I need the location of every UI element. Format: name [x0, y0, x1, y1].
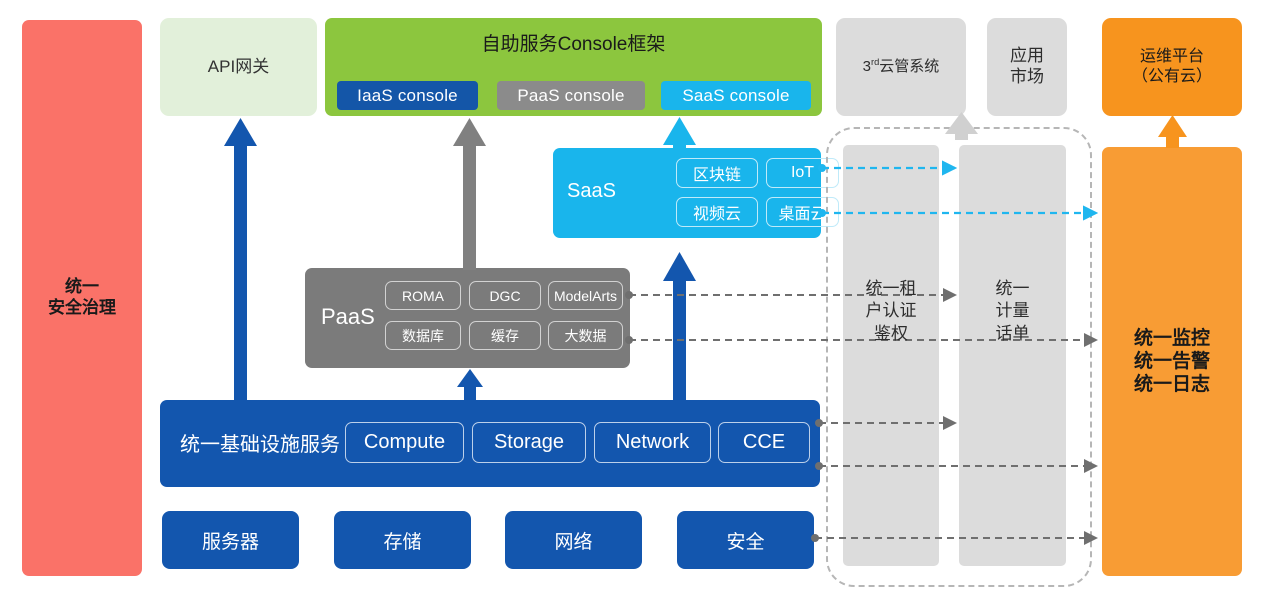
application-market-label: 应用 市场 [1010, 46, 1044, 87]
paas-chip-modelarts-label: ModelArts [554, 288, 617, 304]
infra-chip-storage[interactable]: Storage [472, 422, 586, 463]
saas-layer-box: SaaS 区块链 IoT 视频云 桌面云 [553, 148, 821, 238]
console-chip-saas[interactable]: SaaS console [661, 81, 811, 110]
paas-chip-cache-label: 缓存 [491, 326, 519, 346]
paas-chip-modelarts[interactable]: ModelArts [548, 281, 623, 310]
saas-chip-iot-label: IoT [791, 164, 814, 182]
saas-chip-blockchain-label: 区块链 [693, 161, 741, 185]
console-frame-title: 自助服务Console框架 [325, 29, 822, 56]
infra-chip-cce-label: CCE [743, 431, 785, 454]
resource-box-network: 网络 [505, 511, 642, 569]
paas-chip-database[interactable]: 数据库 [385, 321, 461, 350]
arrow-infra-to-api-gateway [224, 118, 257, 400]
unified-infrastructure-title: 统一基础设施服务 [180, 428, 340, 457]
api-gateway-label: API网关 [208, 57, 269, 78]
security-governance-label: 统一 安全治理 [48, 277, 116, 318]
infra-chip-network-label: Network [616, 431, 689, 454]
paas-chip-database-label: 数据库 [402, 326, 444, 346]
arrow-infra-to-saas [663, 252, 696, 401]
console-chip-iaas[interactable]: IaaS console [337, 81, 478, 110]
paas-chip-dgc-label: DGC [489, 288, 520, 304]
unified-billing-label: 统一 计量 话单 [959, 278, 1066, 345]
infra-chip-storage-label: Storage [494, 431, 564, 454]
console-chip-iaas-label: IaaS console [357, 86, 458, 106]
self-service-console-frame: 自助服务Console框架 IaaS console PaaS console … [325, 18, 822, 116]
unified-tenant-auth-label: 统一租 户认证 鉴权 [843, 278, 939, 345]
api-gateway-box: API网关 [160, 18, 317, 116]
resource-box-server: 服务器 [162, 511, 299, 569]
saas-layer-title: SaaS [567, 180, 616, 203]
infra-chip-cce[interactable]: CCE [718, 422, 810, 463]
paas-chip-cache[interactable]: 缓存 [469, 321, 541, 350]
paas-chip-bigdata[interactable]: 大数据 [548, 321, 623, 350]
arrow-paas-to-console [453, 118, 486, 270]
paas-chip-roma[interactable]: ROMA [385, 281, 461, 310]
infra-chip-compute-label: Compute [364, 431, 445, 454]
paas-chip-roma-label: ROMA [402, 288, 444, 304]
saas-chip-blockchain[interactable]: 区块链 [676, 158, 758, 188]
ops-monitoring-pillar: 统一监控 统一告警 统一日志 [1102, 147, 1242, 576]
resource-box-storage: 存储 [334, 511, 471, 569]
console-chip-paas[interactable]: PaaS console [497, 81, 645, 110]
ops-monitoring-label: 统一监控 统一告警 统一日志 [1134, 327, 1210, 397]
infra-chip-network[interactable]: Network [594, 422, 711, 463]
ops-platform-label: 运维平台 （公有云） [1132, 47, 1212, 86]
paas-layer-box: PaaS ROMA DGC ModelArts 数据库 缓存 大数据 [305, 268, 630, 368]
arrow-saas-to-console [663, 117, 696, 150]
unified-tenant-auth-column [843, 145, 939, 566]
arrow-infra-to-paas [457, 369, 483, 402]
saas-chip-video-cloud[interactable]: 视频云 [676, 197, 758, 227]
console-chip-paas-label: PaaS console [517, 86, 624, 106]
application-market-box: 应用 市场 [987, 18, 1067, 116]
security-governance-pillar: 统一 安全治理 [22, 20, 142, 576]
architecture-diagram: 统一 安全治理 API网关 自助服务Console框架 IaaS console… [0, 0, 1265, 605]
unified-billing-column [959, 145, 1066, 566]
paas-chip-bigdata-label: 大数据 [565, 326, 607, 346]
resource-box-server-label: 服务器 [202, 527, 259, 554]
ops-platform-box: 运维平台 （公有云） [1102, 18, 1242, 116]
unified-infrastructure-bar: 统一基础设施服务 Compute Storage Network CCE [160, 400, 820, 487]
paas-chip-dgc[interactable]: DGC [469, 281, 541, 310]
resource-box-security: 安全 [677, 511, 814, 569]
saas-chip-video-cloud-label: 视频云 [693, 200, 741, 224]
resource-box-storage-label: 存储 [383, 527, 421, 554]
saas-chip-desktop-cloud-label: 桌面云 [778, 200, 826, 224]
paas-layer-title: PaaS [321, 304, 375, 330]
arrow-ops-pillar-to-platform [1158, 115, 1187, 148]
infra-chip-compute[interactable]: Compute [345, 422, 464, 463]
resource-box-network-label: 网络 [554, 527, 592, 554]
third-party-cloud-management-label: 3rd云管系统 [863, 57, 940, 76]
third-party-cloud-management-box: 3rd云管系统 [836, 18, 966, 116]
console-chip-saas-label: SaaS console [682, 86, 789, 106]
resource-box-security-label: 安全 [726, 527, 764, 554]
